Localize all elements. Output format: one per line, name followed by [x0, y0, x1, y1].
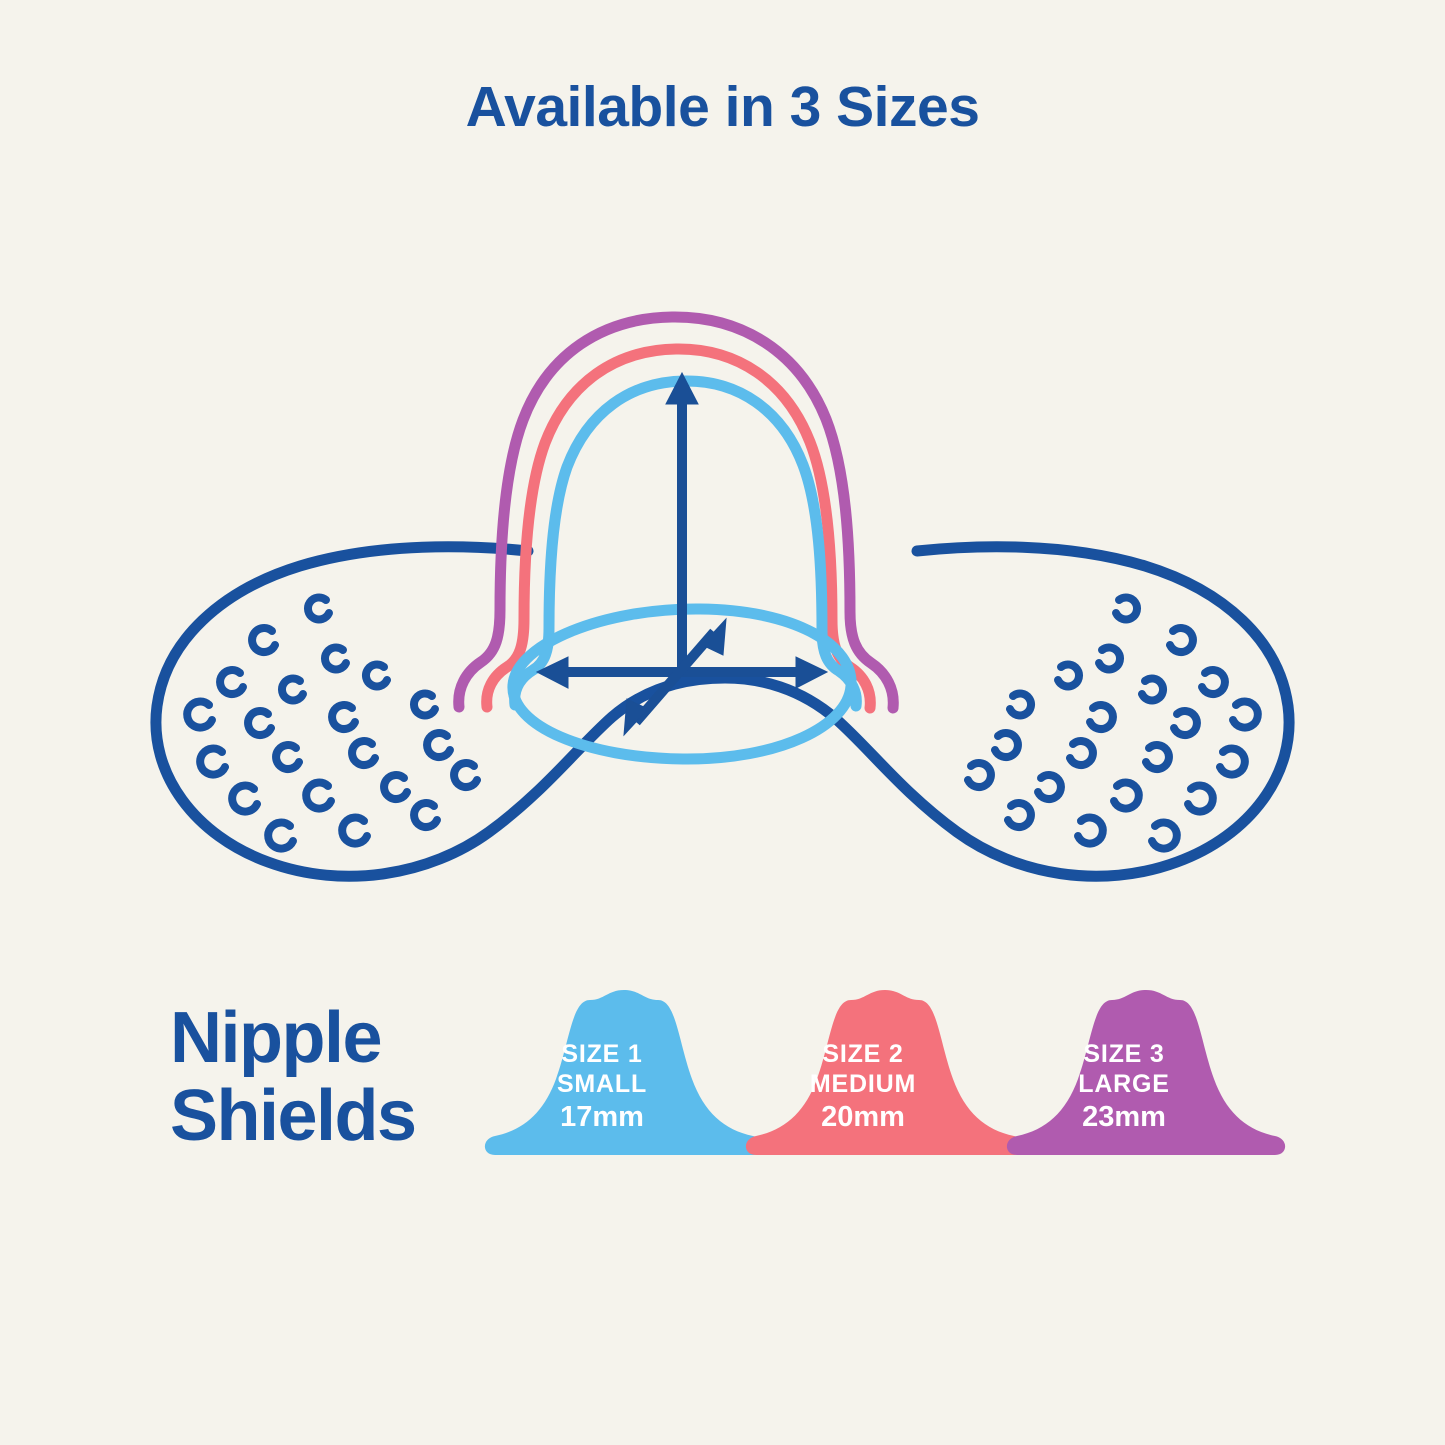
shield-base-ellipse — [513, 609, 851, 759]
depth-arrow — [624, 619, 726, 735]
size-2-line-2: MEDIUM — [743, 1070, 983, 1100]
size-1-line-1: SIZE 1 — [482, 1040, 722, 1070]
product-name: Nipple Shields — [170, 1000, 500, 1156]
shield-outline-size-2-medium — [487, 349, 871, 708]
shield-outline-size-3-large — [459, 317, 894, 708]
shield-outline-size-1-small — [515, 381, 857, 706]
product-name-line-1: Nipple — [170, 1000, 500, 1078]
size-badge-shapes — [485, 990, 1285, 1155]
size-2-line-1: SIZE 2 — [743, 1040, 983, 1070]
size-1-line-3: 17mm — [482, 1100, 722, 1134]
width-arrow — [537, 657, 827, 688]
size-3-badge-shape[interactable] — [1007, 990, 1285, 1155]
size-2-badge-shape[interactable] — [746, 990, 1024, 1155]
size-2-line-3: 20mm — [743, 1100, 983, 1134]
infographic-canvas: Available in 3 Sizes — [0, 0, 1445, 1445]
areola-texture-right — [968, 597, 1258, 848]
size-3-line-3: 23mm — [1004, 1100, 1244, 1134]
size-3-line-2: LARGE — [1004, 1070, 1244, 1100]
dimension-arrows — [537, 373, 827, 735]
breast-outline — [156, 547, 1289, 876]
size-3-line-1: SIZE 3 — [1004, 1040, 1244, 1070]
size-3-badge-label: SIZE 3 LARGE 23mm — [1004, 1040, 1244, 1134]
size-1-badge-shape[interactable] — [485, 990, 763, 1155]
product-name-line-2: Shields — [170, 1078, 500, 1156]
size-1-line-2: SMALL — [482, 1070, 722, 1100]
size-1-badge-label: SIZE 1 SMALL 17mm — [482, 1040, 722, 1134]
nipple-shield-diagram — [0, 0, 1445, 1445]
size-2-badge-label: SIZE 2 MEDIUM 20mm — [743, 1040, 983, 1134]
page-title: Available in 3 Sizes — [0, 78, 1445, 138]
areola-texture-left — [187, 597, 477, 848]
height-arrow — [666, 373, 698, 672]
